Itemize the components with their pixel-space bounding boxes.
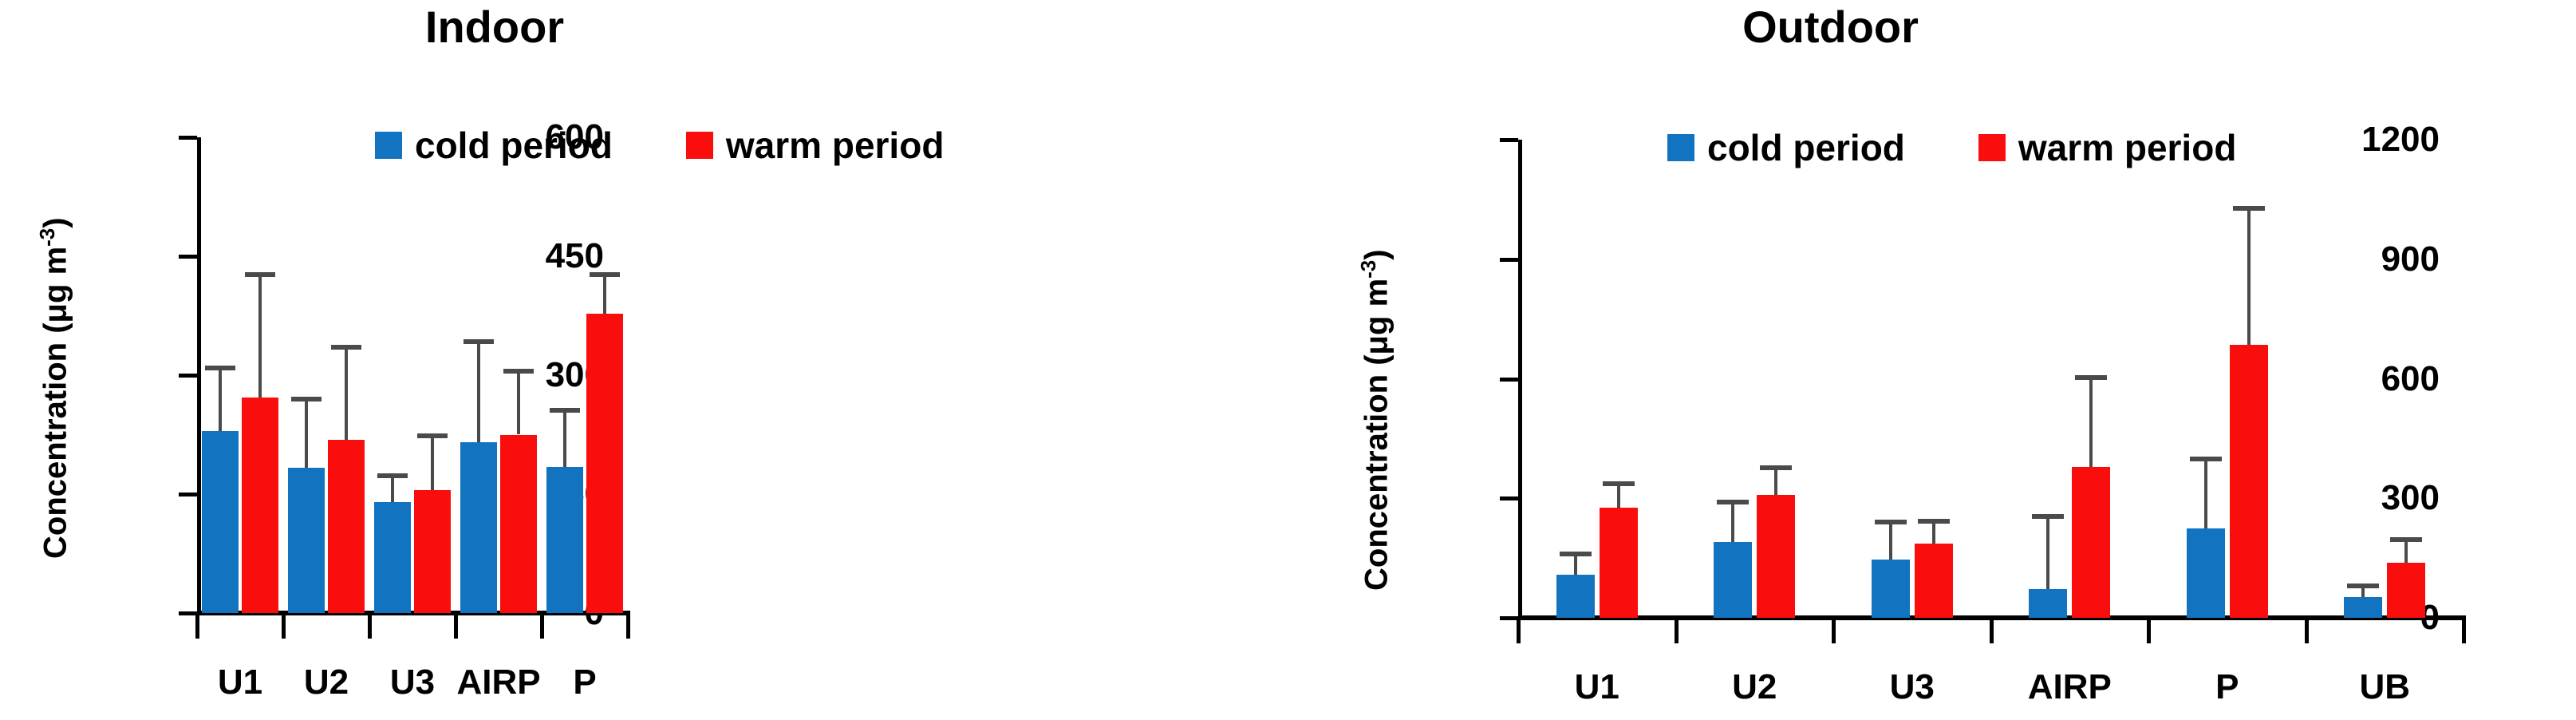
- x-axis-tick: [540, 613, 544, 639]
- error-bar-cap: [2032, 514, 2064, 519]
- x-axis-category-label: AIRP: [456, 663, 540, 702]
- x-axis-category-label: U2: [304, 663, 349, 702]
- error-bar-cap: [1717, 500, 1749, 504]
- legend-item-warm-indoor[interactable]: warm period: [686, 124, 945, 167]
- panel-title-indoor: Indoor: [0, 2, 1133, 53]
- error-bar-stem: [2204, 457, 2207, 528]
- error-bar-cap: [205, 366, 235, 370]
- bar-warm-P[interactable]: [2230, 345, 2268, 618]
- bar-warm-U1[interactable]: [1600, 508, 1638, 618]
- y-axis-tick-label: 300: [2381, 478, 2440, 518]
- error-bar-stem: [477, 339, 480, 442]
- error-bar-cap: [2233, 206, 2265, 211]
- y-axis-title-exponent: -3: [35, 228, 59, 247]
- chart-panel-outdoor: Outdoor cold period warm period 03006009…: [1276, 0, 2576, 720]
- bar-cold-UB[interactable]: [2344, 597, 2382, 618]
- plot-area-indoor: 0150300450600U1U2U3AIRPP: [197, 137, 628, 613]
- y-axis-title-outdoor: Concentration (μg m-3): [1356, 249, 1395, 591]
- bar-cold-P[interactable]: [546, 467, 583, 613]
- error-bar-stem: [345, 345, 348, 440]
- error-bar-stem: [2247, 206, 2251, 345]
- error-bar-stem: [517, 369, 520, 434]
- y-axis-tick: [179, 493, 197, 496]
- error-bar-cap: [550, 408, 580, 413]
- y-axis-title-paren: ): [37, 217, 73, 227]
- error-bar-stem: [1731, 500, 1734, 542]
- y-axis-tick: [1500, 496, 1518, 500]
- plot-area-outdoor: 03006009001200U1U2U3AIRPPUB: [1518, 140, 2464, 618]
- error-bar-stem: [431, 433, 434, 491]
- bar-warm-U3[interactable]: [1915, 544, 1953, 618]
- bar-warm-AIRP[interactable]: [2072, 467, 2110, 618]
- x-axis-tick: [1990, 618, 1994, 643]
- x-axis-category-label: U1: [1575, 667, 1619, 707]
- bar-warm-AIRP[interactable]: [500, 435, 537, 614]
- x-axis-category-label: U3: [390, 663, 435, 702]
- error-bar-cap: [2347, 584, 2379, 588]
- x-axis-tick: [2305, 618, 2309, 643]
- x-axis-tick: [1675, 618, 1679, 643]
- x-axis-tick: [454, 613, 458, 639]
- x-axis-tick: [2147, 618, 2151, 643]
- y-axis-tick-label: 450: [546, 236, 604, 276]
- error-bar-cap: [377, 473, 408, 478]
- chart-panel-indoor: Indoor Concentration (μg m-3) cold perio…: [0, 0, 1276, 720]
- error-bar-stem: [603, 272, 606, 314]
- y-axis-tick: [179, 255, 197, 259]
- error-bar-stem: [2046, 514, 2049, 589]
- error-bar-cap: [2390, 537, 2422, 542]
- y-axis-tick-label: 600: [2381, 359, 2440, 399]
- legend-swatch-warm-icon: [686, 132, 713, 159]
- bar-cold-U1[interactable]: [1556, 575, 1595, 618]
- x-axis-category-label: U1: [218, 663, 262, 702]
- error-bar-stem: [563, 408, 566, 468]
- bar-cold-U3[interactable]: [374, 502, 411, 613]
- x-axis-category-label: P: [573, 663, 596, 702]
- y-axis-tick: [1500, 258, 1518, 262]
- y-axis-title-exponent: -3: [1356, 260, 1380, 279]
- error-bar-stem: [305, 397, 308, 468]
- x-axis-tick: [2462, 618, 2466, 643]
- figure-container: Indoor Concentration (μg m-3) cold perio…: [0, 0, 2576, 720]
- bar-cold-U2[interactable]: [288, 468, 325, 613]
- error-bar-cap: [503, 369, 534, 374]
- y-axis-tick: [179, 611, 197, 615]
- x-axis-tick: [195, 613, 199, 639]
- x-axis-category-label: U2: [1732, 667, 1777, 707]
- y-axis-tick: [1500, 138, 1518, 142]
- error-bar-stem: [2089, 375, 2093, 468]
- error-bar-stem: [219, 366, 222, 430]
- x-axis-tick: [1832, 618, 1836, 643]
- y-axis-tick: [179, 374, 197, 378]
- bar-cold-AIRP[interactable]: [460, 442, 497, 613]
- bar-warm-U3[interactable]: [414, 490, 451, 613]
- error-bar-cap: [1603, 481, 1635, 486]
- x-axis-tick: [626, 613, 630, 639]
- error-bar-stem: [258, 272, 262, 398]
- bar-warm-U1[interactable]: [242, 398, 278, 613]
- y-axis-tick: [1500, 616, 1518, 620]
- x-axis-category-label: U3: [1890, 667, 1935, 707]
- x-axis-tick: [368, 613, 372, 639]
- bar-cold-U2[interactable]: [1714, 542, 1752, 618]
- y-axis-title-paren: ): [1359, 249, 1394, 259]
- y-axis-tick: [1500, 378, 1518, 382]
- error-bar-cap: [2075, 375, 2107, 380]
- y-axis-line-indoor: [197, 137, 201, 613]
- error-bar-cap: [590, 272, 620, 277]
- bar-warm-U2[interactable]: [1757, 495, 1795, 618]
- y-axis-tick-label: 900: [2381, 239, 2440, 279]
- error-bar-cap: [291, 397, 322, 402]
- y-axis-tick: [179, 136, 197, 140]
- bar-warm-U2[interactable]: [328, 440, 365, 613]
- bar-warm-UB[interactable]: [2387, 563, 2425, 618]
- panel-title-outdoor: Outdoor: [1181, 2, 2480, 53]
- x-axis-category-label: P: [2215, 667, 2239, 707]
- x-axis-category-label: UB: [2359, 667, 2410, 707]
- y-axis-title-text: Concentration (μg m: [1359, 279, 1394, 591]
- x-axis-tick: [1517, 618, 1521, 643]
- y-axis-tick-label: 600: [546, 117, 604, 157]
- legend-label-warm: warm period: [726, 124, 945, 167]
- error-bar-stem: [1889, 520, 1892, 560]
- y-axis-tick-label: 1200: [2361, 120, 2440, 160]
- y-axis-title-indoor: Concentration (μg m-3): [35, 217, 73, 559]
- bar-warm-P[interactable]: [586, 314, 623, 613]
- bar-cold-U1[interactable]: [202, 431, 239, 613]
- error-bar-cap: [1760, 465, 1792, 470]
- bar-cold-AIRP[interactable]: [2029, 589, 2067, 618]
- error-bar-cap: [1560, 552, 1592, 556]
- bar-cold-U3[interactable]: [1872, 560, 1910, 618]
- error-bar-cap: [417, 433, 448, 438]
- x-axis-tick: [282, 613, 286, 639]
- x-axis-category-label: AIRP: [2028, 667, 2112, 707]
- error-bar-cap: [245, 272, 275, 277]
- error-bar-cap: [331, 345, 361, 350]
- bar-cold-P[interactable]: [2187, 528, 2225, 618]
- error-bar-cap: [464, 339, 494, 344]
- y-axis-title-text: Concentration (μg m: [37, 247, 73, 559]
- error-bar-cap: [2190, 457, 2222, 461]
- y-axis-line-outdoor: [1518, 140, 1522, 618]
- error-bar-cap: [1918, 519, 1950, 524]
- error-bar-cap: [1875, 520, 1907, 524]
